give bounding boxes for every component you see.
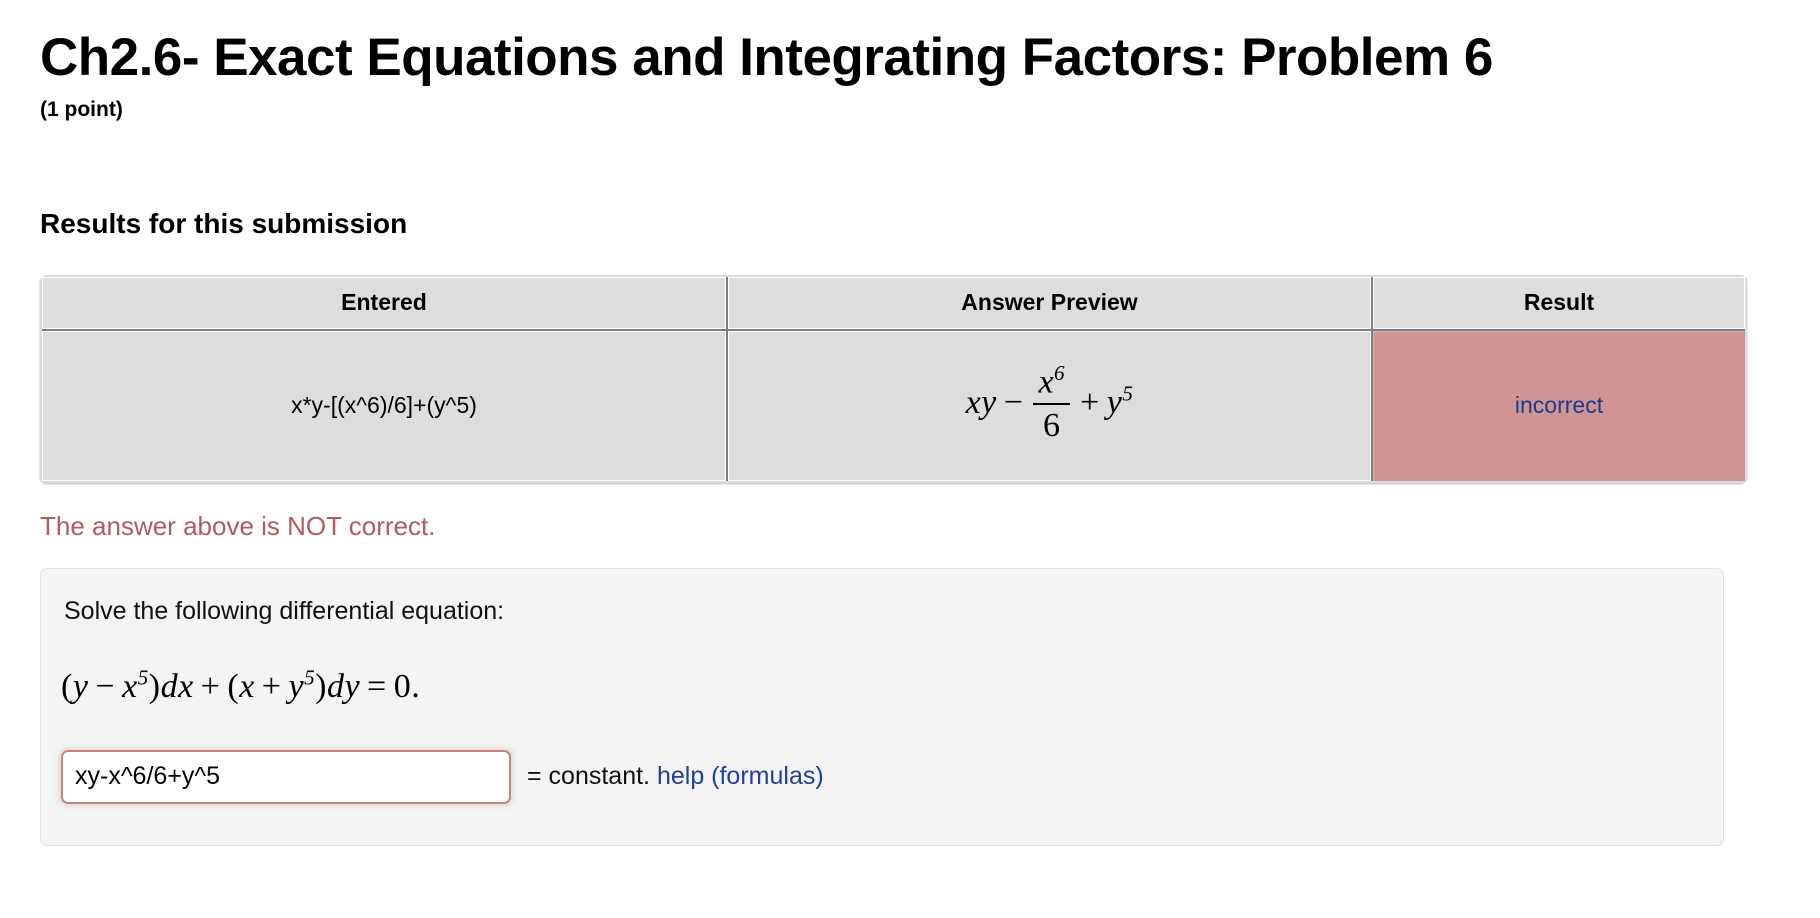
entered-answer-text: x*y-[(x^6)/6]+(y^5) bbox=[291, 392, 477, 418]
problem-instruction-text: Solve the following differential equatio… bbox=[61, 597, 1723, 626]
results-heading: Results for this submission bbox=[40, 122, 1780, 240]
math-numerator-exponent: 6 bbox=[1054, 361, 1065, 385]
answer-preview-math: xy−x66+y5 bbox=[966, 384, 1134, 421]
eq-zero: 0. bbox=[394, 668, 421, 705]
eq-open-paren-2: ( bbox=[227, 668, 239, 705]
eq-y-2: y bbox=[288, 668, 304, 705]
answer-input[interactable] bbox=[61, 750, 511, 804]
constant-label: = constant. bbox=[527, 762, 650, 790]
feedback-message: The answer above is NOT correct. bbox=[40, 483, 1780, 542]
eq-x-exponent: 5 bbox=[138, 666, 149, 690]
eq-plus-operator-2: + bbox=[255, 668, 289, 705]
eq-y-2-exponent: 5 bbox=[304, 666, 315, 690]
table-row: x*y-[(x^6)/6]+(y^5) xy−x66+y5 incorrect bbox=[42, 331, 1745, 481]
math-fraction-denominator: 6 bbox=[1033, 407, 1070, 444]
math-term-y-exponent: 5 bbox=[1122, 382, 1133, 406]
eq-equals-operator: = bbox=[360, 668, 394, 705]
cell-entered-answer: x*y-[(x^6)/6]+(y^5) bbox=[42, 331, 728, 481]
eq-dx: dx bbox=[161, 668, 194, 705]
math-minus-operator: − bbox=[997, 384, 1031, 421]
math-fraction: x66 bbox=[1033, 363, 1070, 444]
math-fraction-bar bbox=[1033, 403, 1070, 405]
eq-close-paren-1: ) bbox=[149, 668, 161, 705]
math-fraction-numerator: x6 bbox=[1033, 363, 1070, 402]
results-table: Entered Answer Preview Result x*y-[(x^6)… bbox=[40, 275, 1747, 483]
status-badge: incorrect bbox=[1515, 392, 1603, 418]
eq-open-paren-1: ( bbox=[61, 668, 73, 705]
problem-statement-box: Solve the following differential equatio… bbox=[40, 568, 1724, 846]
help-formulas-link[interactable]: help (formulas) bbox=[657, 762, 824, 790]
eq-x-2: x bbox=[239, 668, 255, 705]
table-header-row: Entered Answer Preview Result bbox=[42, 277, 1745, 331]
answer-suffix-text: = constant. help (formulas) bbox=[511, 762, 824, 791]
math-term-xy: xy bbox=[966, 384, 997, 421]
cell-answer-preview: xy−x66+y5 bbox=[728, 331, 1373, 481]
problem-equation: (y−x5)dx+(x+y5)dy=0. bbox=[61, 626, 1723, 706]
eq-y: y bbox=[73, 668, 89, 705]
answer-entry-row: = constant. help (formulas) bbox=[61, 706, 1723, 804]
eq-dy: dy bbox=[327, 668, 360, 705]
differential-equation-math: (y−x5)dx+(x+y5)dy=0. bbox=[61, 668, 420, 705]
eq-minus-operator: − bbox=[88, 668, 122, 705]
cell-result-status: incorrect bbox=[1373, 331, 1745, 481]
math-plus-operator: + bbox=[1073, 384, 1107, 421]
eq-close-paren-2: ) bbox=[315, 668, 327, 705]
column-header-answer-preview: Answer Preview bbox=[728, 277, 1373, 331]
column-header-result: Result bbox=[1373, 277, 1745, 331]
math-term-y: y bbox=[1107, 384, 1123, 421]
results-table-container: Entered Answer Preview Result x*y-[(x^6)… bbox=[40, 275, 1707, 483]
point-value-label: (1 point) bbox=[40, 86, 1780, 122]
column-header-entered: Entered bbox=[42, 277, 728, 331]
problem-page: Ch2.6- Exact Equations and Integrating F… bbox=[0, 0, 1820, 918]
eq-x: x bbox=[122, 668, 138, 705]
math-numerator-base: x bbox=[1038, 364, 1054, 401]
eq-plus-operator-1: + bbox=[194, 668, 228, 705]
page-title: Ch2.6- Exact Equations and Integrating F… bbox=[40, 0, 1780, 86]
